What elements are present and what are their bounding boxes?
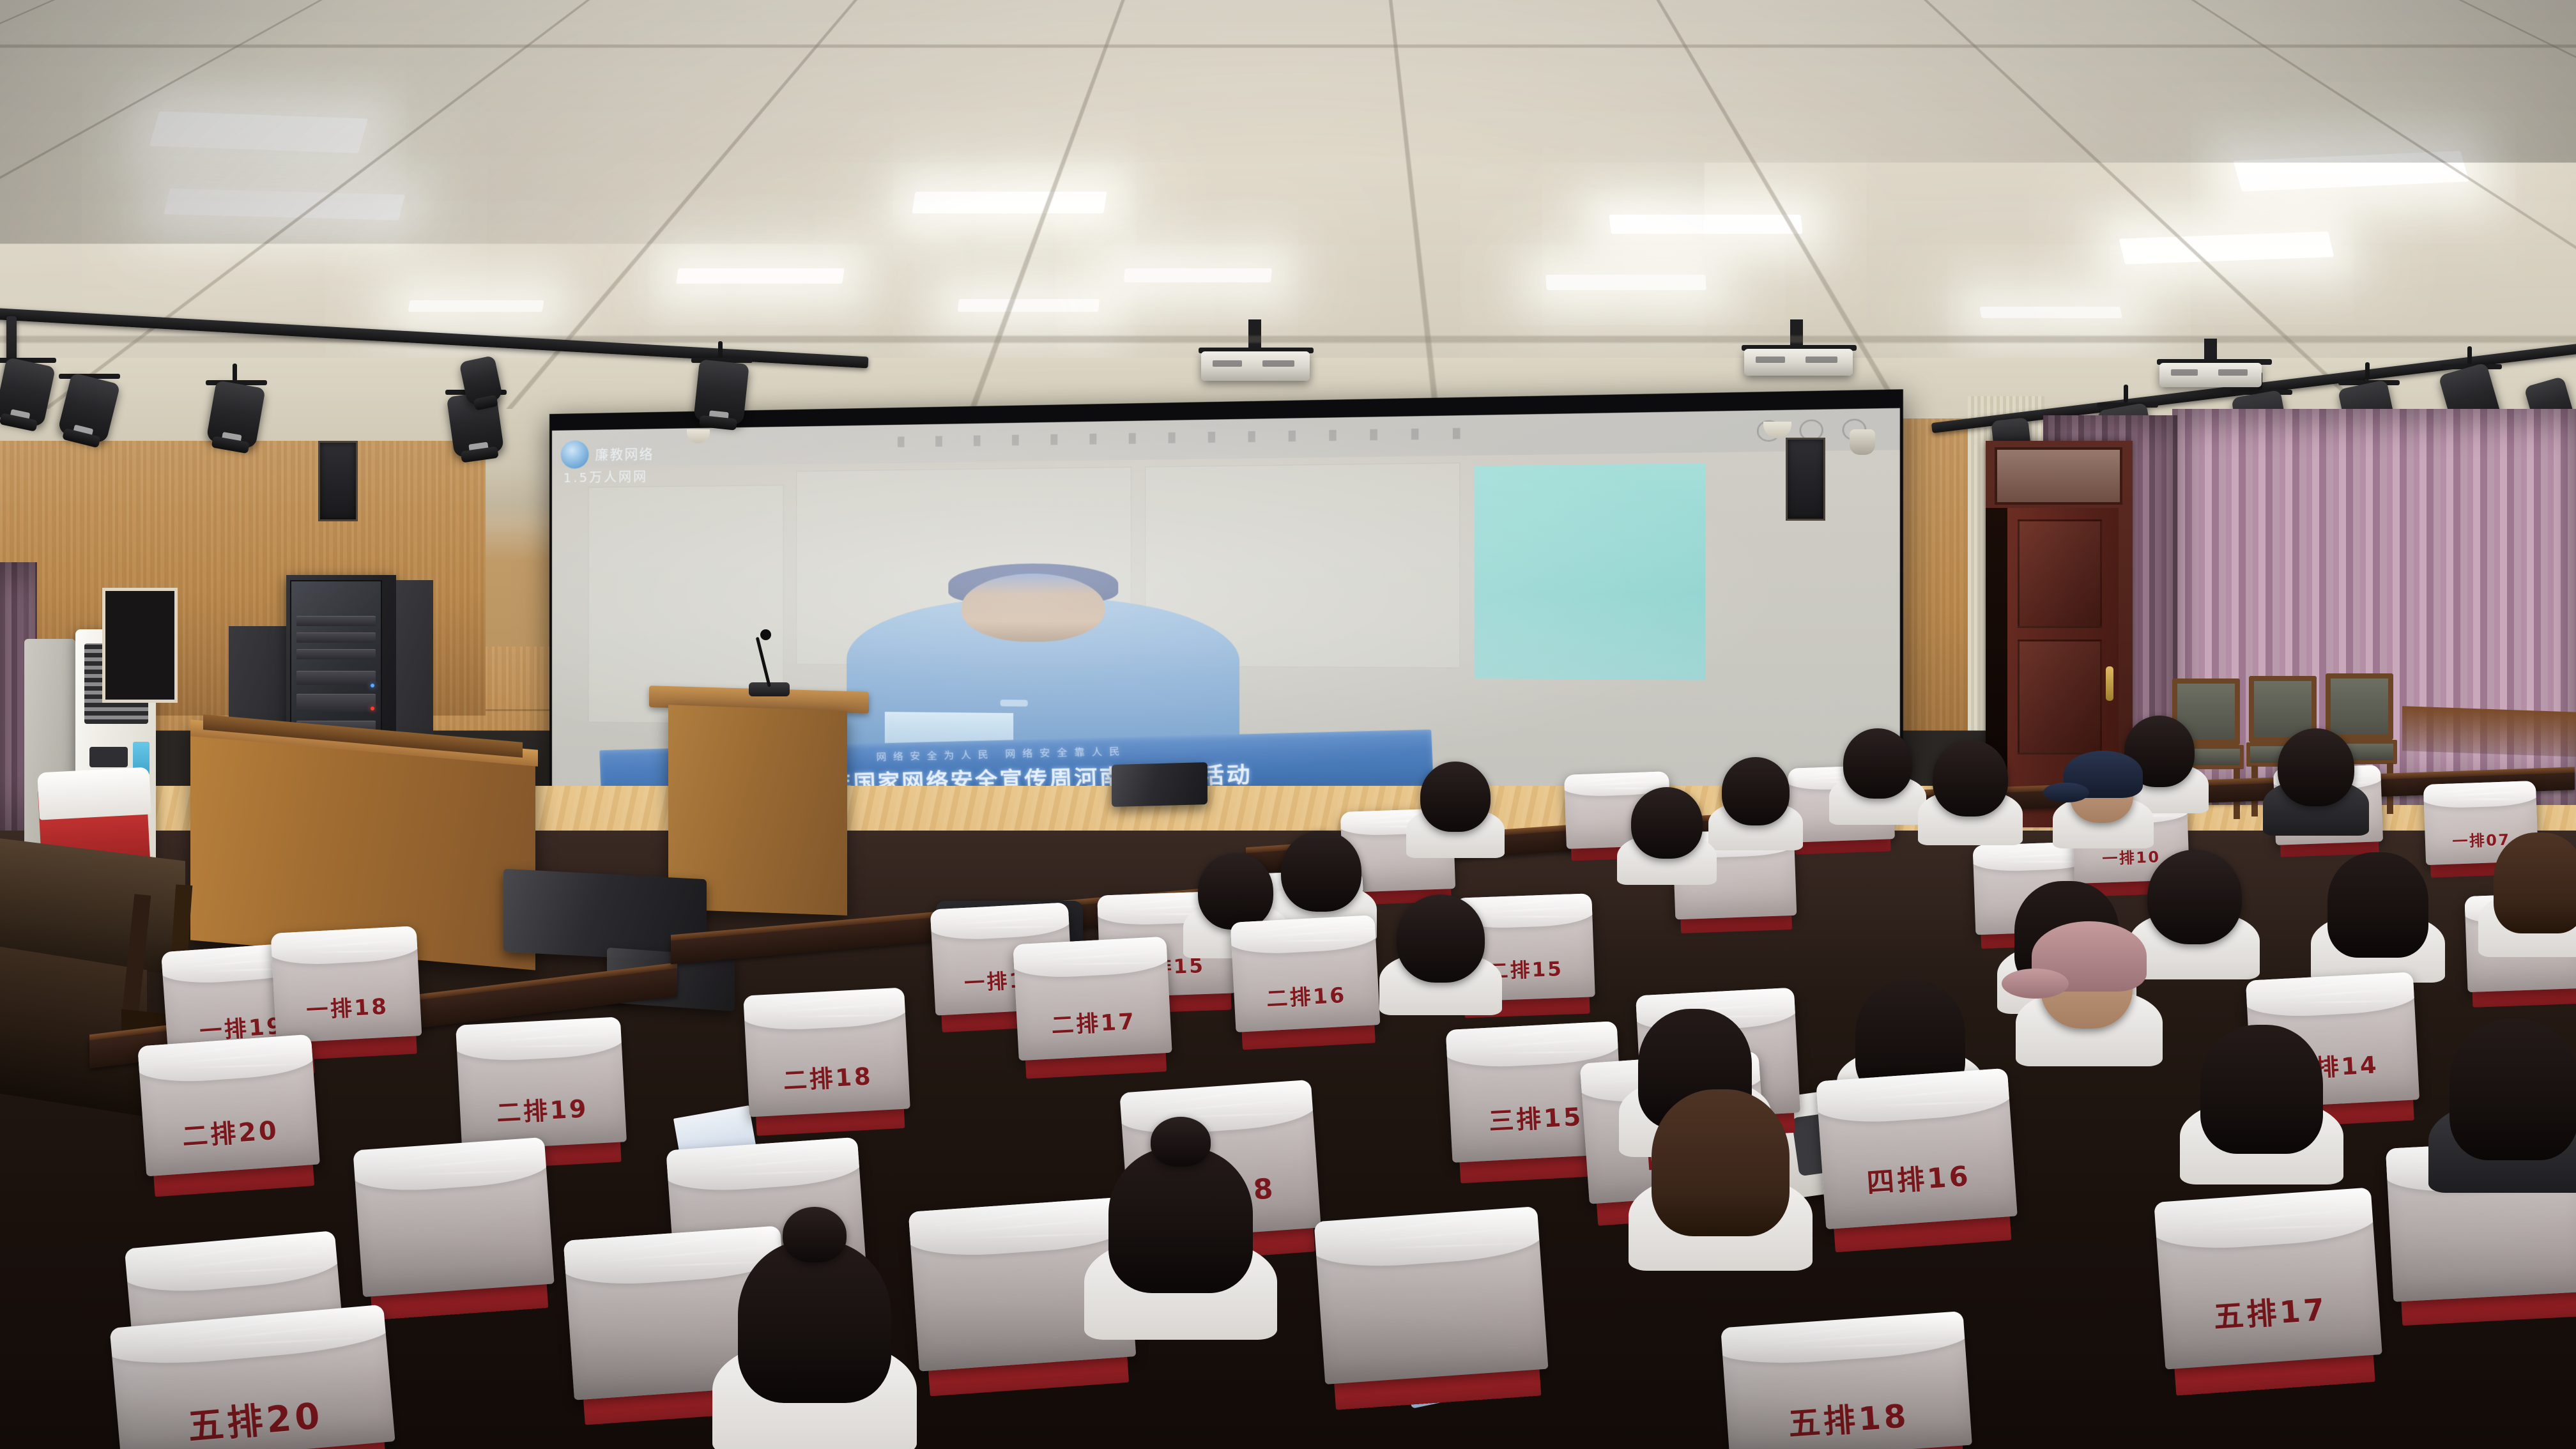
logo-label: 廉教网络 <box>595 443 654 464</box>
seat-number-label: 五排18 <box>1726 1386 1971 1448</box>
ceiling-panel-light <box>1545 275 1706 290</box>
video-emblem <box>1000 700 1028 707</box>
rack-status-led <box>371 684 374 687</box>
seat-number-label <box>358 1219 549 1232</box>
ceiling-panel-light <box>912 192 1107 213</box>
auditorium-seat[interactable]: 四排16 <box>1816 1068 2017 1229</box>
seat-back: 一排18 <box>271 926 422 1043</box>
ac-display-panel[interactable] <box>89 747 128 767</box>
audience-head <box>1420 762 1491 832</box>
audience-head <box>1631 787 1703 859</box>
auditorium-seat[interactable] <box>1314 1206 1549 1384</box>
audience-member <box>2492 831 2576 938</box>
audience-member <box>1393 894 1489 997</box>
rack-unit <box>296 694 376 712</box>
seat-back: 五排20 <box>109 1305 395 1449</box>
auditorium-seat[interactable]: 二排20 <box>137 1034 320 1176</box>
ceiling-panel-light <box>676 268 844 284</box>
video-speaker-head <box>962 574 1105 642</box>
seat-cover-fold <box>1485 916 1592 918</box>
seat-back: 二排20 <box>137 1034 320 1176</box>
microphone-head-icon <box>760 629 771 640</box>
seat-back: 五排17 <box>2154 1187 2382 1369</box>
audience-hair <box>2449 1019 2576 1160</box>
screen-logo: 廉教网络 1.5万人网网 <box>561 439 654 468</box>
auditorium-seat[interactable]: 二排19 <box>456 1016 627 1150</box>
auditorium-seat[interactable]: 五排18 <box>1721 1311 1972 1449</box>
wall-speaker <box>318 441 358 521</box>
audience-hair <box>1108 1147 1253 1293</box>
stage-equipment-box <box>1112 762 1207 807</box>
audience-member <box>2064 749 2143 833</box>
seat-back: 二排16 <box>1230 915 1381 1032</box>
seat-back <box>1314 1206 1549 1384</box>
audience-member <box>2447 1016 2576 1166</box>
auditorium-seat[interactable]: 二排16 <box>1230 915 1381 1032</box>
audience-member <box>2198 1022 2326 1160</box>
seat-number-label: 五排17 <box>2161 1281 2380 1340</box>
security-camera-icon <box>1850 429 1875 455</box>
rack-unit <box>296 671 376 685</box>
seat-number-label: 二排20 <box>142 1107 318 1156</box>
auditorium-photo: 网络安全为人民 网络安全靠人民 2023年国家网络安全宣传周河南校园日活动 廉教… <box>0 0 2576 1449</box>
red-chair-cover <box>37 767 151 820</box>
logo-sublabel: 1.5万人网网 <box>563 466 648 486</box>
auditorium-seat[interactable]: 一排18 <box>271 926 422 1043</box>
auditorium-seat[interactable]: 五排20 <box>109 1305 395 1449</box>
seat-back: 四排16 <box>1816 1068 2017 1229</box>
seat-number-label: 二排18 <box>747 1055 909 1098</box>
seat-number-label: 一排18 <box>274 987 421 1026</box>
ceiling-panel-light <box>1124 268 1272 282</box>
audience-hair <box>2327 852 2428 958</box>
seat-number-label: 二排16 <box>1234 976 1379 1015</box>
audience-head <box>1933 740 2008 816</box>
audience-member <box>1278 831 1365 925</box>
audience-member <box>1648 1086 1792 1243</box>
seat-number-label: 二排17 <box>1016 1002 1171 1042</box>
rack-unit <box>296 649 376 659</box>
seat-cover-hood <box>456 1016 625 1062</box>
door-transom-lattice <box>1995 447 2122 505</box>
logo-disc-icon <box>561 440 589 469</box>
audience-head <box>1281 831 1361 912</box>
audience-hair <box>1652 1089 1790 1236</box>
audience-member <box>1840 728 1915 810</box>
rack-unit <box>296 632 376 643</box>
audience-member <box>1105 1144 1256 1310</box>
seat-back: 二排19 <box>456 1016 627 1150</box>
audience-member <box>2274 728 2357 819</box>
audience-member <box>1628 787 1706 870</box>
auditorium-seat[interactable]: 五排17 <box>2154 1187 2382 1369</box>
audience-head <box>1198 853 1273 930</box>
audience-member <box>2143 850 2246 960</box>
audience-hair-bun <box>783 1207 847 1262</box>
audience-member <box>1417 762 1494 843</box>
seat-cover-hood <box>2246 972 2418 1019</box>
audience-member <box>2326 850 2430 962</box>
audience-member <box>735 1236 894 1422</box>
audience-head <box>2278 728 2354 806</box>
seat-cover-hood <box>743 988 909 1032</box>
seat-cover-hood <box>1013 937 1170 979</box>
audience-hair-bun <box>1151 1117 1211 1167</box>
seat-cover-fold <box>2448 799 2536 801</box>
audience-member <box>2032 919 2147 1044</box>
auditorium-seat[interactable]: 二排17 <box>1013 937 1172 1061</box>
ceiling-panel-light <box>408 300 544 312</box>
seat-number-label: 二排19 <box>459 1087 626 1130</box>
rack-unit <box>296 616 376 626</box>
video-teal-panel <box>1475 463 1705 680</box>
seat-number-label <box>2390 1225 2576 1235</box>
door-panel <box>2018 519 2102 628</box>
seat-back: 五排18 <box>1721 1311 1972 1449</box>
seat-number-label: 五排20 <box>116 1381 394 1449</box>
audience-member <box>1719 757 1793 836</box>
audience-head <box>1397 894 1485 983</box>
ceiling-panel-light <box>1979 307 2122 318</box>
video-timeline-dots[interactable] <box>898 427 1489 447</box>
seat-cover-hood <box>1230 915 1379 956</box>
wall-speaker <box>1786 438 1825 521</box>
auditorium-seat[interactable] <box>353 1137 554 1297</box>
audience-hair <box>738 1240 891 1403</box>
audience-head <box>2147 850 2241 944</box>
seat-back <box>353 1137 554 1297</box>
wall-air-vent <box>102 588 178 703</box>
seat-number-label <box>1320 1298 1543 1313</box>
ceiling-panel-light <box>149 111 368 153</box>
audience-head <box>1843 728 1913 799</box>
seat-cover-hood <box>271 926 421 967</box>
audience-head <box>1722 757 1790 825</box>
rack-status-led <box>371 707 374 710</box>
audience-member <box>1929 740 2011 829</box>
door-panel <box>2018 640 2102 755</box>
auditorium-seat[interactable]: 二排18 <box>743 988 910 1117</box>
seat-back: 二排17 <box>1013 937 1172 1061</box>
side-table <box>2402 706 2576 757</box>
seat-number-label: 四排16 <box>1821 1151 2016 1204</box>
cap-brim <box>2043 783 2089 803</box>
ceiling-panel-light <box>1609 215 1802 234</box>
seat-back: 二排18 <box>743 988 910 1117</box>
ceiling-panel-light <box>958 299 1100 312</box>
door-handle[interactable] <box>2106 666 2113 701</box>
audience-hair <box>2200 1025 2323 1154</box>
audience-hair <box>2494 832 2576 933</box>
cap-brim <box>2002 969 2068 999</box>
